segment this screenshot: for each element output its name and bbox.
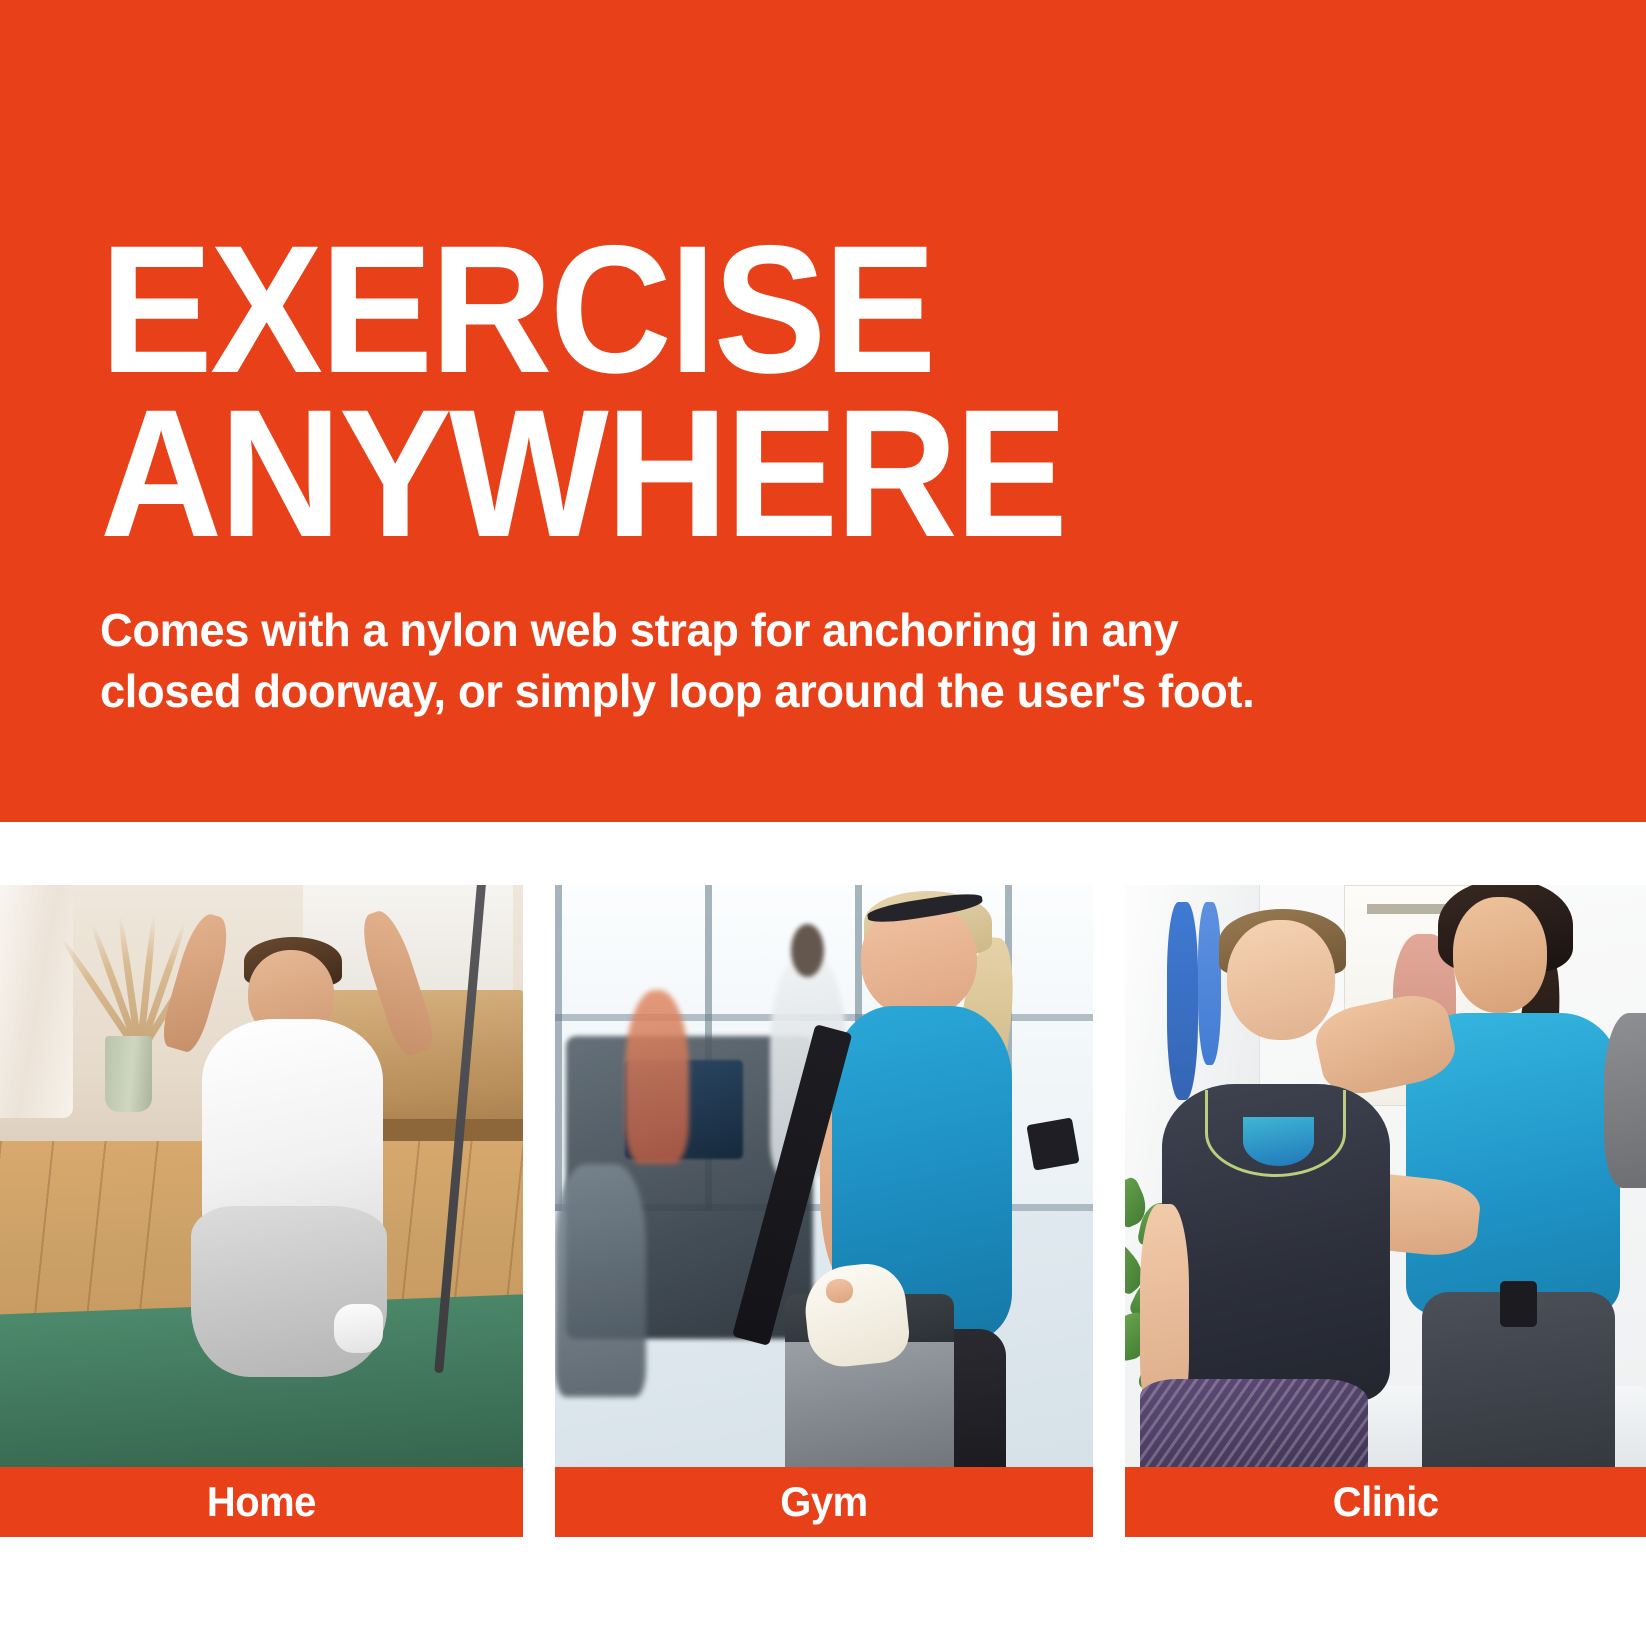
therapist-head bbox=[1453, 897, 1547, 1013]
panel-clinic: Clinic bbox=[1125, 885, 1646, 1537]
panel-gym: Gym bbox=[555, 885, 1093, 1537]
caption-bar-gym: Gym bbox=[555, 1467, 1093, 1537]
photo-clinic bbox=[1125, 885, 1646, 1467]
home-person bbox=[199, 937, 387, 1344]
caption-label-home: Home bbox=[207, 1478, 316, 1526]
home-person-sock bbox=[334, 1304, 383, 1353]
panel-row: Home bbox=[0, 885, 1646, 1537]
clinic-therapist bbox=[1396, 885, 1646, 1467]
photo-gym bbox=[555, 885, 1093, 1467]
panel-home: Home bbox=[0, 885, 523, 1537]
gym-background-person-a bbox=[625, 990, 690, 1165]
clinic-patient bbox=[1146, 920, 1417, 1467]
caption-bar-home: Home bbox=[0, 1467, 523, 1537]
therapist-sleeve bbox=[1604, 1013, 1646, 1188]
therapist-smartwatch bbox=[1500, 1281, 1536, 1328]
gym-person-hand bbox=[826, 1279, 853, 1303]
patient-inner-top bbox=[1243, 1117, 1313, 1166]
page-subtitle: Comes with a nylon web strap for anchori… bbox=[100, 600, 1410, 722]
patient-leggings bbox=[1140, 1379, 1368, 1467]
caption-bar-clinic: Clinic bbox=[1125, 1467, 1646, 1537]
caption-label-clinic: Clinic bbox=[1333, 1478, 1439, 1526]
home-vase bbox=[105, 1036, 152, 1112]
gym-person-armband bbox=[1026, 1118, 1080, 1171]
header-band: EXERCISE ANYWHERE Comes with a nylon web… bbox=[0, 0, 1646, 822]
gym-person bbox=[797, 891, 1088, 1467]
patient-head bbox=[1227, 920, 1335, 1040]
page-title: EXERCISE ANYWHERE bbox=[100, 228, 1402, 556]
photo-home bbox=[0, 885, 523, 1467]
caption-label-gym: Gym bbox=[780, 1478, 867, 1526]
gym-duffel-bag bbox=[785, 1294, 953, 1467]
poster-canvas: EXERCISE ANYWHERE Comes with a nylon web… bbox=[0, 0, 1646, 1646]
home-curtain bbox=[0, 885, 73, 1118]
gym-towel bbox=[801, 1260, 912, 1370]
gym-background-person-c bbox=[555, 1164, 646, 1397]
